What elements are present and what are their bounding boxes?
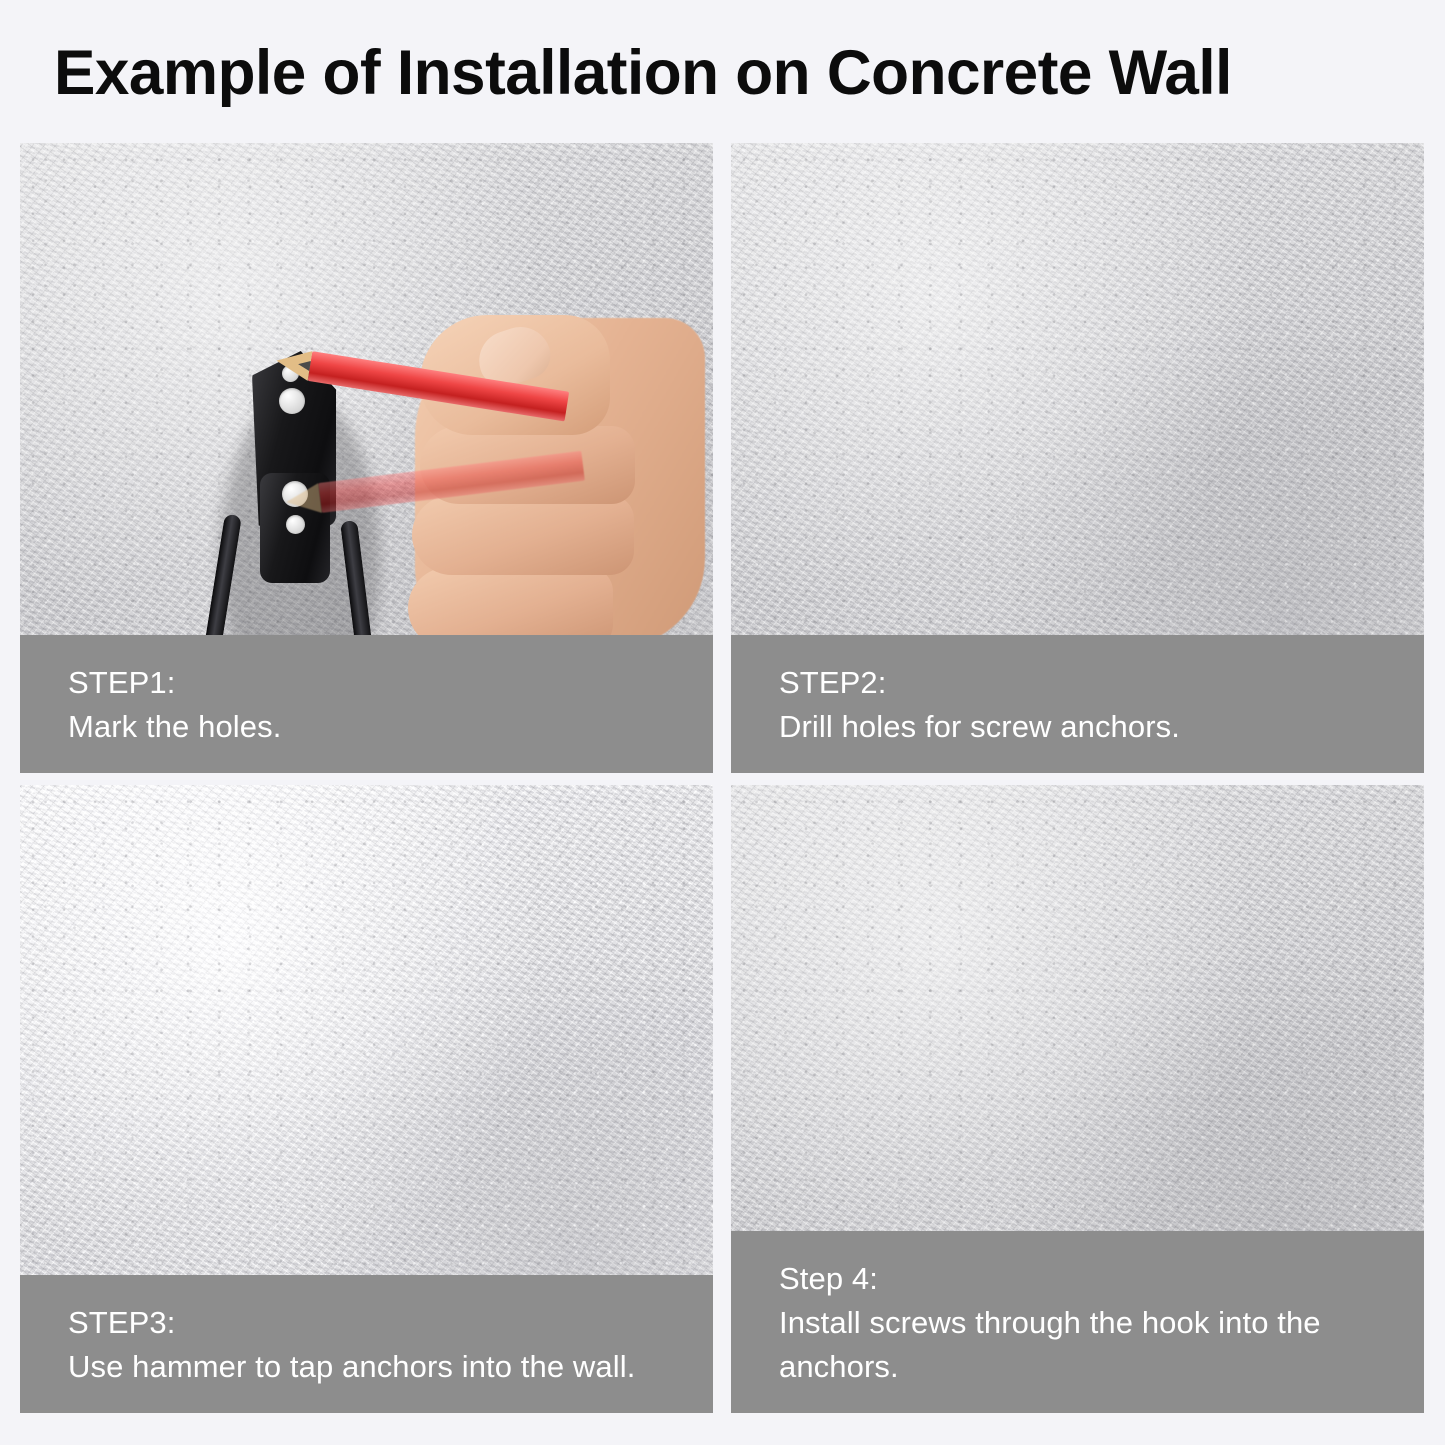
- step-panel-4: Step 4: Install screws through the hook …: [731, 785, 1424, 1413]
- pencil-ghost-tip: [284, 483, 321, 517]
- step-1-text: Mark the holes.: [68, 705, 683, 749]
- step-4-caption: Step 4: Install screws through the hook …: [731, 1231, 1424, 1413]
- instruction-page: Example of Installation on Concrete Wall…: [0, 0, 1445, 1445]
- step-2-caption: STEP2: Drill holes for screw anchors.: [731, 635, 1424, 773]
- step-1-label: STEP1:: [68, 661, 683, 705]
- step-panel-2: 13 11 9 STEP2: Drill holes for screw anc…: [731, 143, 1424, 773]
- step-4-label: Step 4:: [779, 1257, 1394, 1301]
- step-3-label: STEP3:: [68, 1301, 683, 1345]
- pencil-lead-icon: [297, 359, 310, 371]
- step-3-text: Use hammer to tap anchors into the wall.: [68, 1345, 683, 1389]
- step-panel-3: STEP3: Use hammer to tap anchors into th…: [20, 785, 713, 1413]
- mounting-hole-icon: [279, 388, 305, 414]
- hand-finger: [412, 495, 634, 575]
- step-4-text: Install screws through the hook into the…: [779, 1301, 1394, 1389]
- step-2-label: STEP2:: [779, 661, 1394, 705]
- step-1-caption: STEP1: Mark the holes.: [20, 635, 713, 773]
- step-2-text: Drill holes for screw anchors.: [779, 705, 1394, 749]
- step-panel-1: STEP1: Mark the holes.: [20, 143, 713, 773]
- page-title: Example of Installation on Concrete Wall: [54, 28, 1374, 118]
- step-3-caption: STEP3: Use hammer to tap anchors into th…: [20, 1275, 713, 1413]
- mounting-hole-icon: [286, 515, 305, 534]
